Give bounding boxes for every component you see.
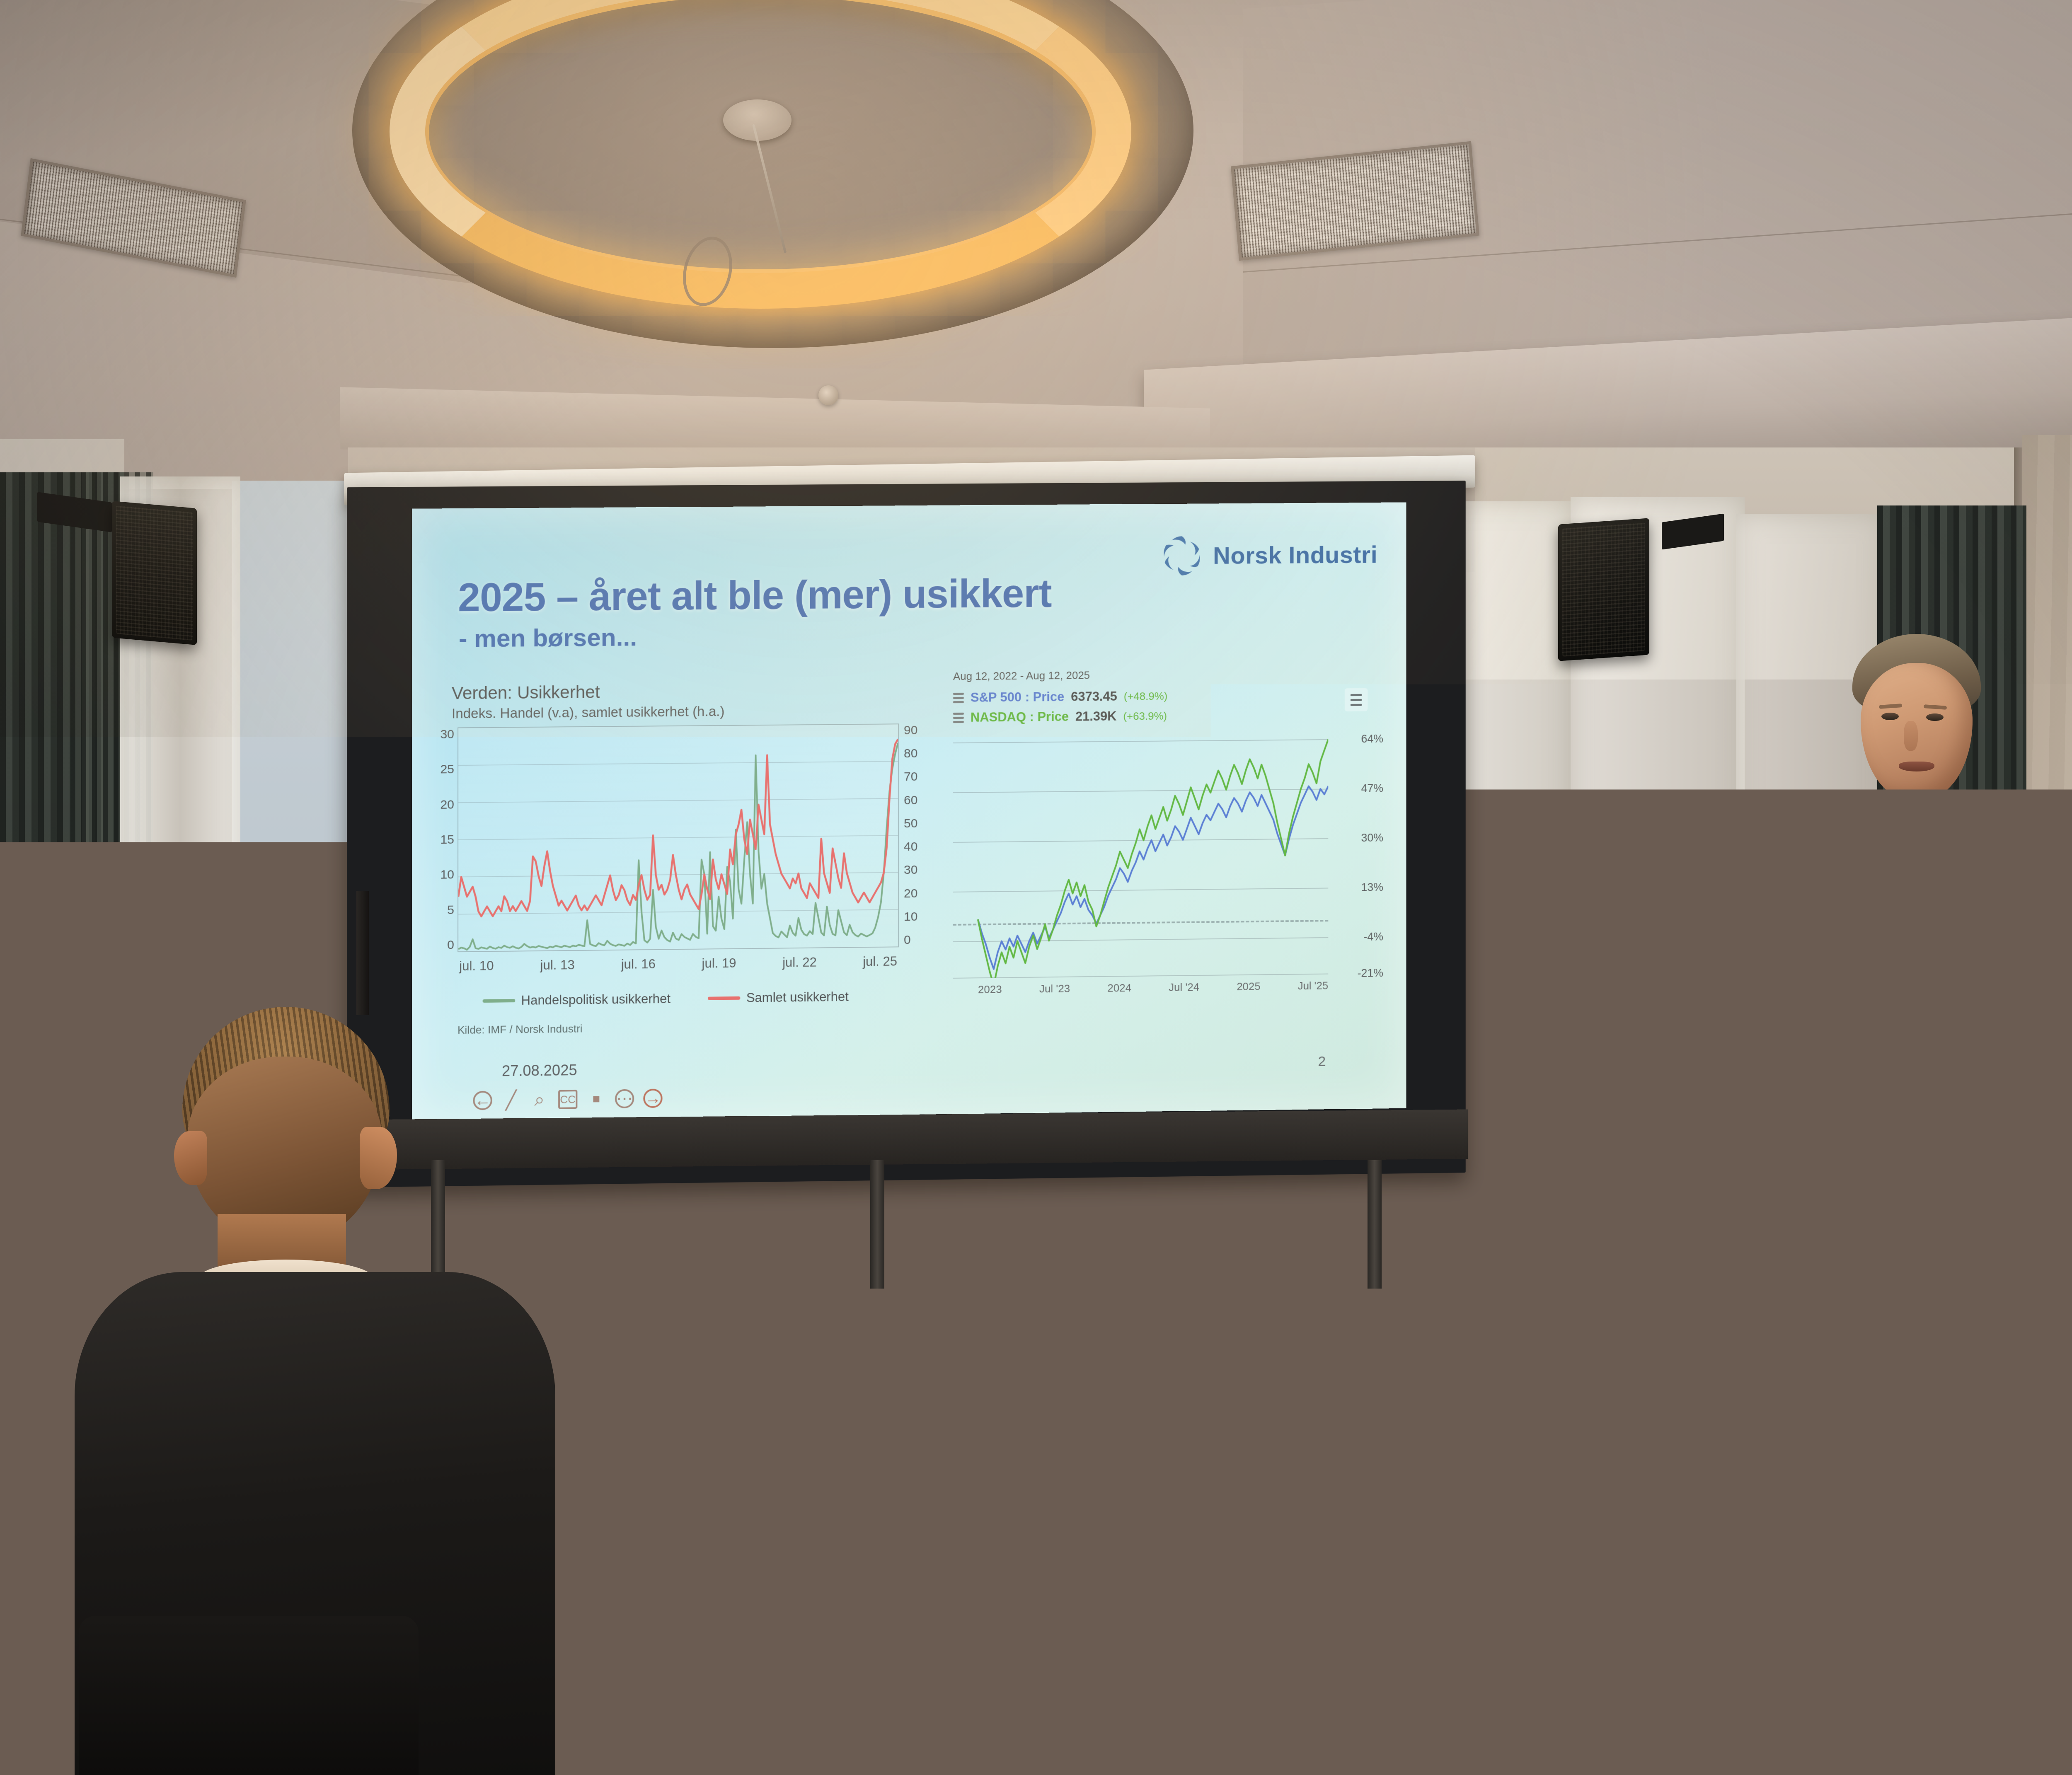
x-tick: jul. 10 bbox=[459, 958, 494, 974]
y-tick: 47% bbox=[1361, 782, 1384, 795]
next-slide-icon[interactable]: → bbox=[643, 1089, 662, 1108]
attendee-ear bbox=[174, 1131, 207, 1185]
y-tick: -4% bbox=[1363, 930, 1383, 943]
uncertainty-chart: Verden: Usikkerhet Indeks. Handel (v.a),… bbox=[452, 680, 918, 1050]
y-tick: 25 bbox=[440, 762, 454, 776]
screen-stand-leg bbox=[870, 1160, 884, 1289]
more-options-icon[interactable]: ⋯ bbox=[615, 1089, 634, 1108]
carpet-pattern bbox=[787, 1583, 1243, 1740]
x-tick: Jul '25 bbox=[1298, 979, 1329, 993]
conference-room-scene: 2025 – året alt ble (mer) usikkert - men… bbox=[0, 0, 2072, 1775]
uncertainty-plot-area: 30 25 20 15 10 5 0 90 80 70 bbox=[457, 723, 899, 960]
series-value: 21.39K bbox=[1075, 709, 1117, 724]
y-tick: 13% bbox=[1361, 881, 1384, 894]
index-chart: Aug 12, 2022 - Aug 12, 2025 S&P 500 : Pr… bbox=[953, 667, 1373, 1043]
slide-page-number: 2 bbox=[1318, 1054, 1326, 1070]
x-tick: jul. 25 bbox=[863, 954, 897, 969]
series-change: (+48.9%) bbox=[1124, 689, 1168, 703]
legend-item: Handelspolitisk usikkerhet bbox=[483, 991, 670, 1008]
y-tick: 80 bbox=[904, 747, 917, 761]
x-tick: jul. 19 bbox=[702, 956, 736, 971]
presenter-nose bbox=[1904, 721, 1918, 751]
slide-subtitle: - men børsen... bbox=[459, 623, 637, 653]
chair-leg bbox=[356, 891, 369, 1015]
wall-speaker-left bbox=[112, 501, 197, 645]
presenter-mouth bbox=[1899, 762, 1934, 771]
index-plot-area: 64% 47% 30% 13% -4% -21% 2023 Jul '23 20… bbox=[953, 727, 1349, 979]
y-tick: 10 bbox=[440, 868, 454, 883]
uncertainty-series-svg bbox=[458, 724, 898, 951]
series-row-sp500[interactable]: S&P 500 : Price 6373.45 (+48.9%) bbox=[953, 687, 1373, 705]
norsk-industri-swirl-logo bbox=[1159, 533, 1204, 578]
uncertainty-chart-title: Verden: Usikkerhet bbox=[452, 680, 918, 703]
drag-handle-icon[interactable] bbox=[953, 692, 964, 703]
legend-label: Samlet usikkerhet bbox=[746, 989, 849, 1006]
presenter-trouser-seam bbox=[1915, 1562, 1922, 1775]
brand-logo: Norsk Industri bbox=[1159, 532, 1377, 578]
y-tick: -21% bbox=[1358, 967, 1383, 980]
subtitles-icon[interactable]: CC bbox=[558, 1090, 577, 1109]
attendee-chair bbox=[79, 1616, 419, 1775]
attendee-ear bbox=[360, 1127, 397, 1189]
standing-table bbox=[1591, 1077, 1761, 1566]
presentation-slide[interactable]: 2025 – året alt ble (mer) usikkert - men… bbox=[412, 502, 1406, 1121]
series-change: (+63.9%) bbox=[1123, 709, 1167, 723]
series-value: 6373.45 bbox=[1071, 689, 1117, 704]
legend-swatch-green bbox=[483, 999, 516, 1003]
x-tick: 2025 bbox=[1237, 980, 1260, 993]
index-chart-range: Aug 12, 2022 - Aug 12, 2025 bbox=[953, 667, 1373, 683]
y-tick: 20 bbox=[904, 886, 917, 900]
legend-item: Samlet usikkerhet bbox=[708, 989, 848, 1006]
projector-screen-surface[interactable]: 2025 – året alt ble (mer) usikkert - men… bbox=[412, 502, 1406, 1121]
x-tick: Jul '24 bbox=[1169, 981, 1199, 994]
screen-stand-leg bbox=[1368, 1160, 1382, 1289]
audio-transmitter bbox=[1653, 1057, 1703, 1075]
y-tick: 60 bbox=[904, 793, 917, 808]
series-row-nasdaq[interactable]: NASDAQ : Price 21.39K (+63.9%) bbox=[953, 706, 1373, 725]
y-tick: 10 bbox=[904, 910, 917, 924]
x-axis-labels: 2023 Jul '23 2024 Jul '24 2025 Jul '25 bbox=[953, 979, 1328, 996]
sprinkler-head-icon bbox=[818, 385, 838, 405]
y-tick: 30 bbox=[440, 728, 454, 742]
right-y-axis: 90 80 70 60 50 40 30 20 10 0 bbox=[904, 723, 933, 948]
series-name: S&P 500 : Price bbox=[971, 689, 1064, 705]
y-tick: 30 bbox=[904, 863, 917, 877]
x-tick: jul. 22 bbox=[782, 955, 817, 970]
y-tick: 50 bbox=[904, 817, 917, 831]
presenter-trousers bbox=[1807, 1421, 2039, 1775]
hamburger-menu-icon[interactable] bbox=[1345, 688, 1368, 711]
y-tick: 0 bbox=[904, 933, 911, 947]
presenter-ring bbox=[1901, 1185, 1914, 1192]
slide-title: 2025 – året alt ble (mer) usikkert bbox=[458, 571, 1051, 621]
y-tick: 15 bbox=[440, 833, 454, 847]
outside-road bbox=[439, 1255, 1243, 1326]
uncertainty-plot-box bbox=[457, 723, 899, 952]
brand-logo-text: Norsk Industri bbox=[1213, 541, 1377, 569]
chair-leg bbox=[116, 891, 128, 1015]
speaker-grille bbox=[1562, 522, 1645, 657]
y-tick: 0 bbox=[447, 938, 454, 952]
carpet-pattern bbox=[1119, 1442, 1459, 1566]
uncertainty-chart-subtitle: Indeks. Handel (v.a), samlet usikkerhet … bbox=[452, 702, 918, 722]
presenter-eye bbox=[1881, 713, 1899, 720]
legend-swatch-red bbox=[708, 996, 740, 1000]
y-tick: 70 bbox=[904, 770, 917, 784]
presenter-belt-buckle bbox=[1898, 1412, 1923, 1429]
drag-handle-icon[interactable] bbox=[953, 712, 964, 723]
index-series-svg bbox=[953, 727, 1328, 979]
x-tick: Jul '23 bbox=[1039, 982, 1070, 996]
presenter-name-badge bbox=[1964, 1057, 2039, 1151]
y-tick: 64% bbox=[1361, 732, 1384, 745]
display-settings-icon[interactable]: ■ bbox=[587, 1089, 606, 1109]
speaker-grille bbox=[116, 505, 193, 641]
x-tick: jul. 13 bbox=[540, 958, 575, 973]
presenter bbox=[1736, 634, 2072, 1744]
series-name: NASDAQ : Price bbox=[971, 709, 1069, 725]
wall-speaker-right bbox=[1558, 518, 1649, 661]
y-tick: 40 bbox=[904, 840, 917, 854]
y-tick: 20 bbox=[440, 798, 454, 812]
presenter-eye bbox=[1926, 713, 1944, 721]
x-tick: 2024 bbox=[1107, 982, 1131, 995]
woven-vase bbox=[883, 1173, 1019, 1334]
x-axis-labels: jul. 10 jul. 13 jul. 16 jul. 19 jul. 22 … bbox=[457, 954, 899, 974]
left-y-axis: 30 25 20 15 10 5 0 bbox=[425, 728, 454, 953]
x-tick: 2023 bbox=[978, 983, 1002, 996]
y-tick: 30% bbox=[1361, 831, 1384, 844]
y-tick: 90 bbox=[904, 723, 917, 738]
uncertainty-legend: Handelspolitisk usikkerhet Samlet usikke… bbox=[483, 989, 849, 1008]
y-tick: 5 bbox=[447, 903, 454, 917]
legend-label: Handelspolitisk usikkerhet bbox=[521, 991, 670, 1008]
x-tick: jul. 16 bbox=[621, 957, 656, 972]
